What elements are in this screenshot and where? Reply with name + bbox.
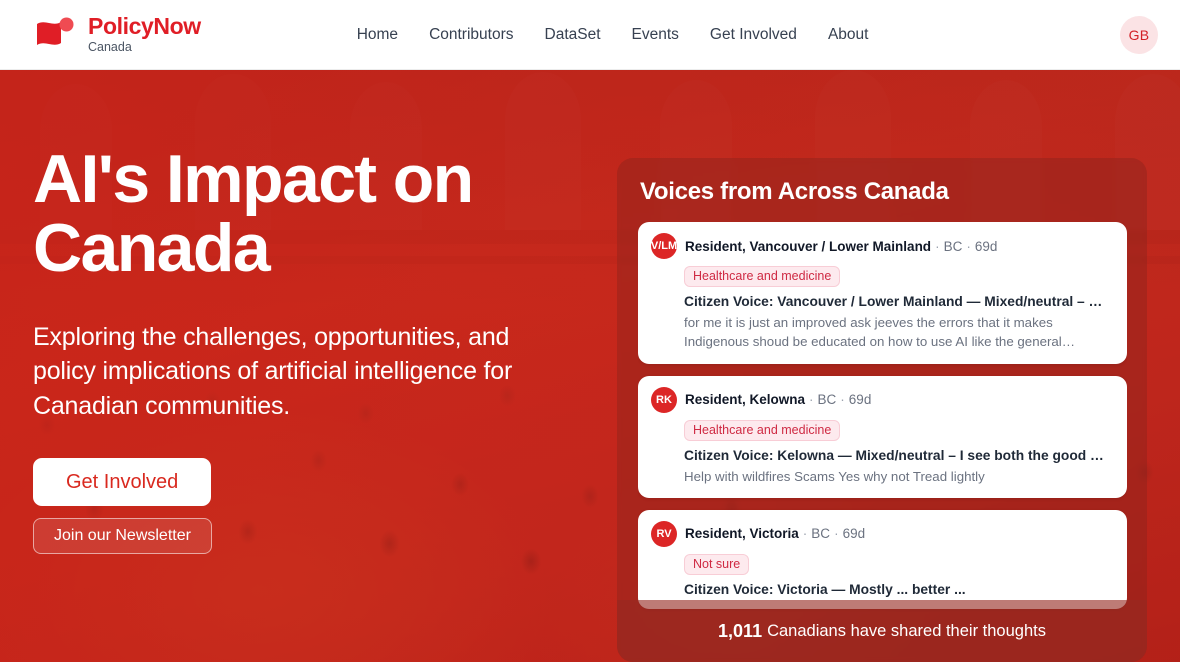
voice-avatar: RK	[651, 387, 677, 413]
voices-panel: Voices from Across Canada V/LM Resident,…	[617, 158, 1147, 662]
meta-separator: ·	[935, 239, 940, 254]
nav-item-home[interactable]: Home	[357, 26, 398, 44]
meta-separator: ·	[840, 392, 845, 407]
meta-separator: ·	[809, 392, 814, 407]
hero-subtitle: Exploring the challenges, opportunities,…	[33, 320, 578, 424]
nav-item-contributors[interactable]: Contributors	[429, 26, 513, 44]
voices-footer-text: Canadians have shared their thoughts	[767, 622, 1046, 641]
meta-separator: ·	[834, 526, 839, 541]
voice-body: Help with wildfires Scams Yes why not Tr…	[684, 467, 1104, 486]
voice-age: 69d	[843, 526, 866, 541]
get-involved-button[interactable]: Get Involved	[33, 458, 211, 506]
join-newsletter-button[interactable]: Join our Newsletter	[33, 518, 212, 554]
nav-item-dataset[interactable]: DataSet	[545, 26, 601, 44]
page-title: AI's Impact on Canada	[33, 145, 578, 284]
voice-headline: Citizen Voice: Kelowna — Mixed/neutral –…	[684, 448, 1104, 463]
voice-province: BC	[818, 392, 837, 407]
voice-topic-tag[interactable]: Healthcare and medicine	[684, 420, 840, 441]
voices-footer: 1,011 Canadians have shared their though…	[617, 600, 1147, 662]
hero-cta-group: Get Involved Join our Newsletter	[33, 458, 578, 554]
meta-separator: ·	[966, 239, 971, 254]
brand-logo[interactable]: PolicyNow Canada	[33, 15, 201, 55]
voice-author-name: Resident, Kelowna	[685, 392, 805, 407]
voice-meta: Resident, Kelowna·BC·69d	[685, 392, 871, 407]
voice-body-line: Indigenous shoud be educated on how to u…	[684, 332, 1104, 351]
voices-list[interactable]: V/LM Resident, Vancouver / Lower Mainlan…	[638, 222, 1127, 612]
voice-topic-tag[interactable]: Healthcare and medicine	[684, 266, 840, 287]
brand-title: PolicyNow	[88, 15, 201, 38]
voice-headline: Citizen Voice: Vancouver / Lower Mainlan…	[684, 294, 1104, 309]
voice-meta: Resident, Victoria·BC·69d	[685, 526, 865, 541]
hero-content: AI's Impact on Canada Exploring the chal…	[33, 145, 578, 554]
voice-author-name: Resident, Victoria	[685, 526, 799, 541]
user-avatar[interactable]: GB	[1120, 16, 1158, 54]
voice-age: 69d	[849, 392, 872, 407]
voice-card[interactable]: RV Resident, Victoria·BC·69d Not sure Ci…	[638, 510, 1127, 609]
voice-avatar: RV	[651, 521, 677, 547]
voice-avatar: V/LM	[651, 233, 677, 259]
voice-age: 69d	[975, 239, 998, 254]
voice-meta: Resident, Vancouver / Lower Mainland·BC·…	[685, 239, 997, 254]
main-navigation: Home Contributors DataSet Events Get Inv…	[357, 26, 869, 44]
site-header: PolicyNow Canada Home Contributors DataS…	[0, 0, 1180, 70]
voice-card[interactable]: V/LM Resident, Vancouver / Lower Mainlan…	[638, 222, 1127, 364]
voice-headline: Citizen Voice: Victoria — Mostly ... bet…	[684, 582, 1104, 597]
voice-province: BC	[811, 526, 830, 541]
voices-panel-title: Voices from Across Canada	[640, 178, 1147, 206]
voices-count: 1,011	[718, 621, 762, 642]
brand-subtitle: Canada	[88, 41, 201, 54]
voice-card[interactable]: RK Resident, Kelowna·BC·69d Healthcare a…	[638, 376, 1127, 498]
voice-body: for me it is just an improved ask jeeves…	[684, 313, 1104, 352]
nav-item-get-involved[interactable]: Get Involved	[710, 26, 797, 44]
hero-section: AI's Impact on Canada Exploring the chal…	[0, 70, 1180, 662]
voice-author-name: Resident, Vancouver / Lower Mainland	[685, 239, 931, 254]
nav-item-about[interactable]: About	[828, 26, 869, 44]
voice-body-line: Help with wildfires Scams Yes why not Tr…	[684, 467, 1104, 486]
nav-item-events[interactable]: Events	[632, 26, 679, 44]
voice-topic-tag[interactable]: Not sure	[684, 554, 749, 575]
voice-province: BC	[944, 239, 963, 254]
voice-body-line: for me it is just an improved ask jeeves…	[684, 313, 1104, 332]
flag-bookmark-icon	[33, 15, 77, 55]
meta-separator: ·	[803, 526, 808, 541]
